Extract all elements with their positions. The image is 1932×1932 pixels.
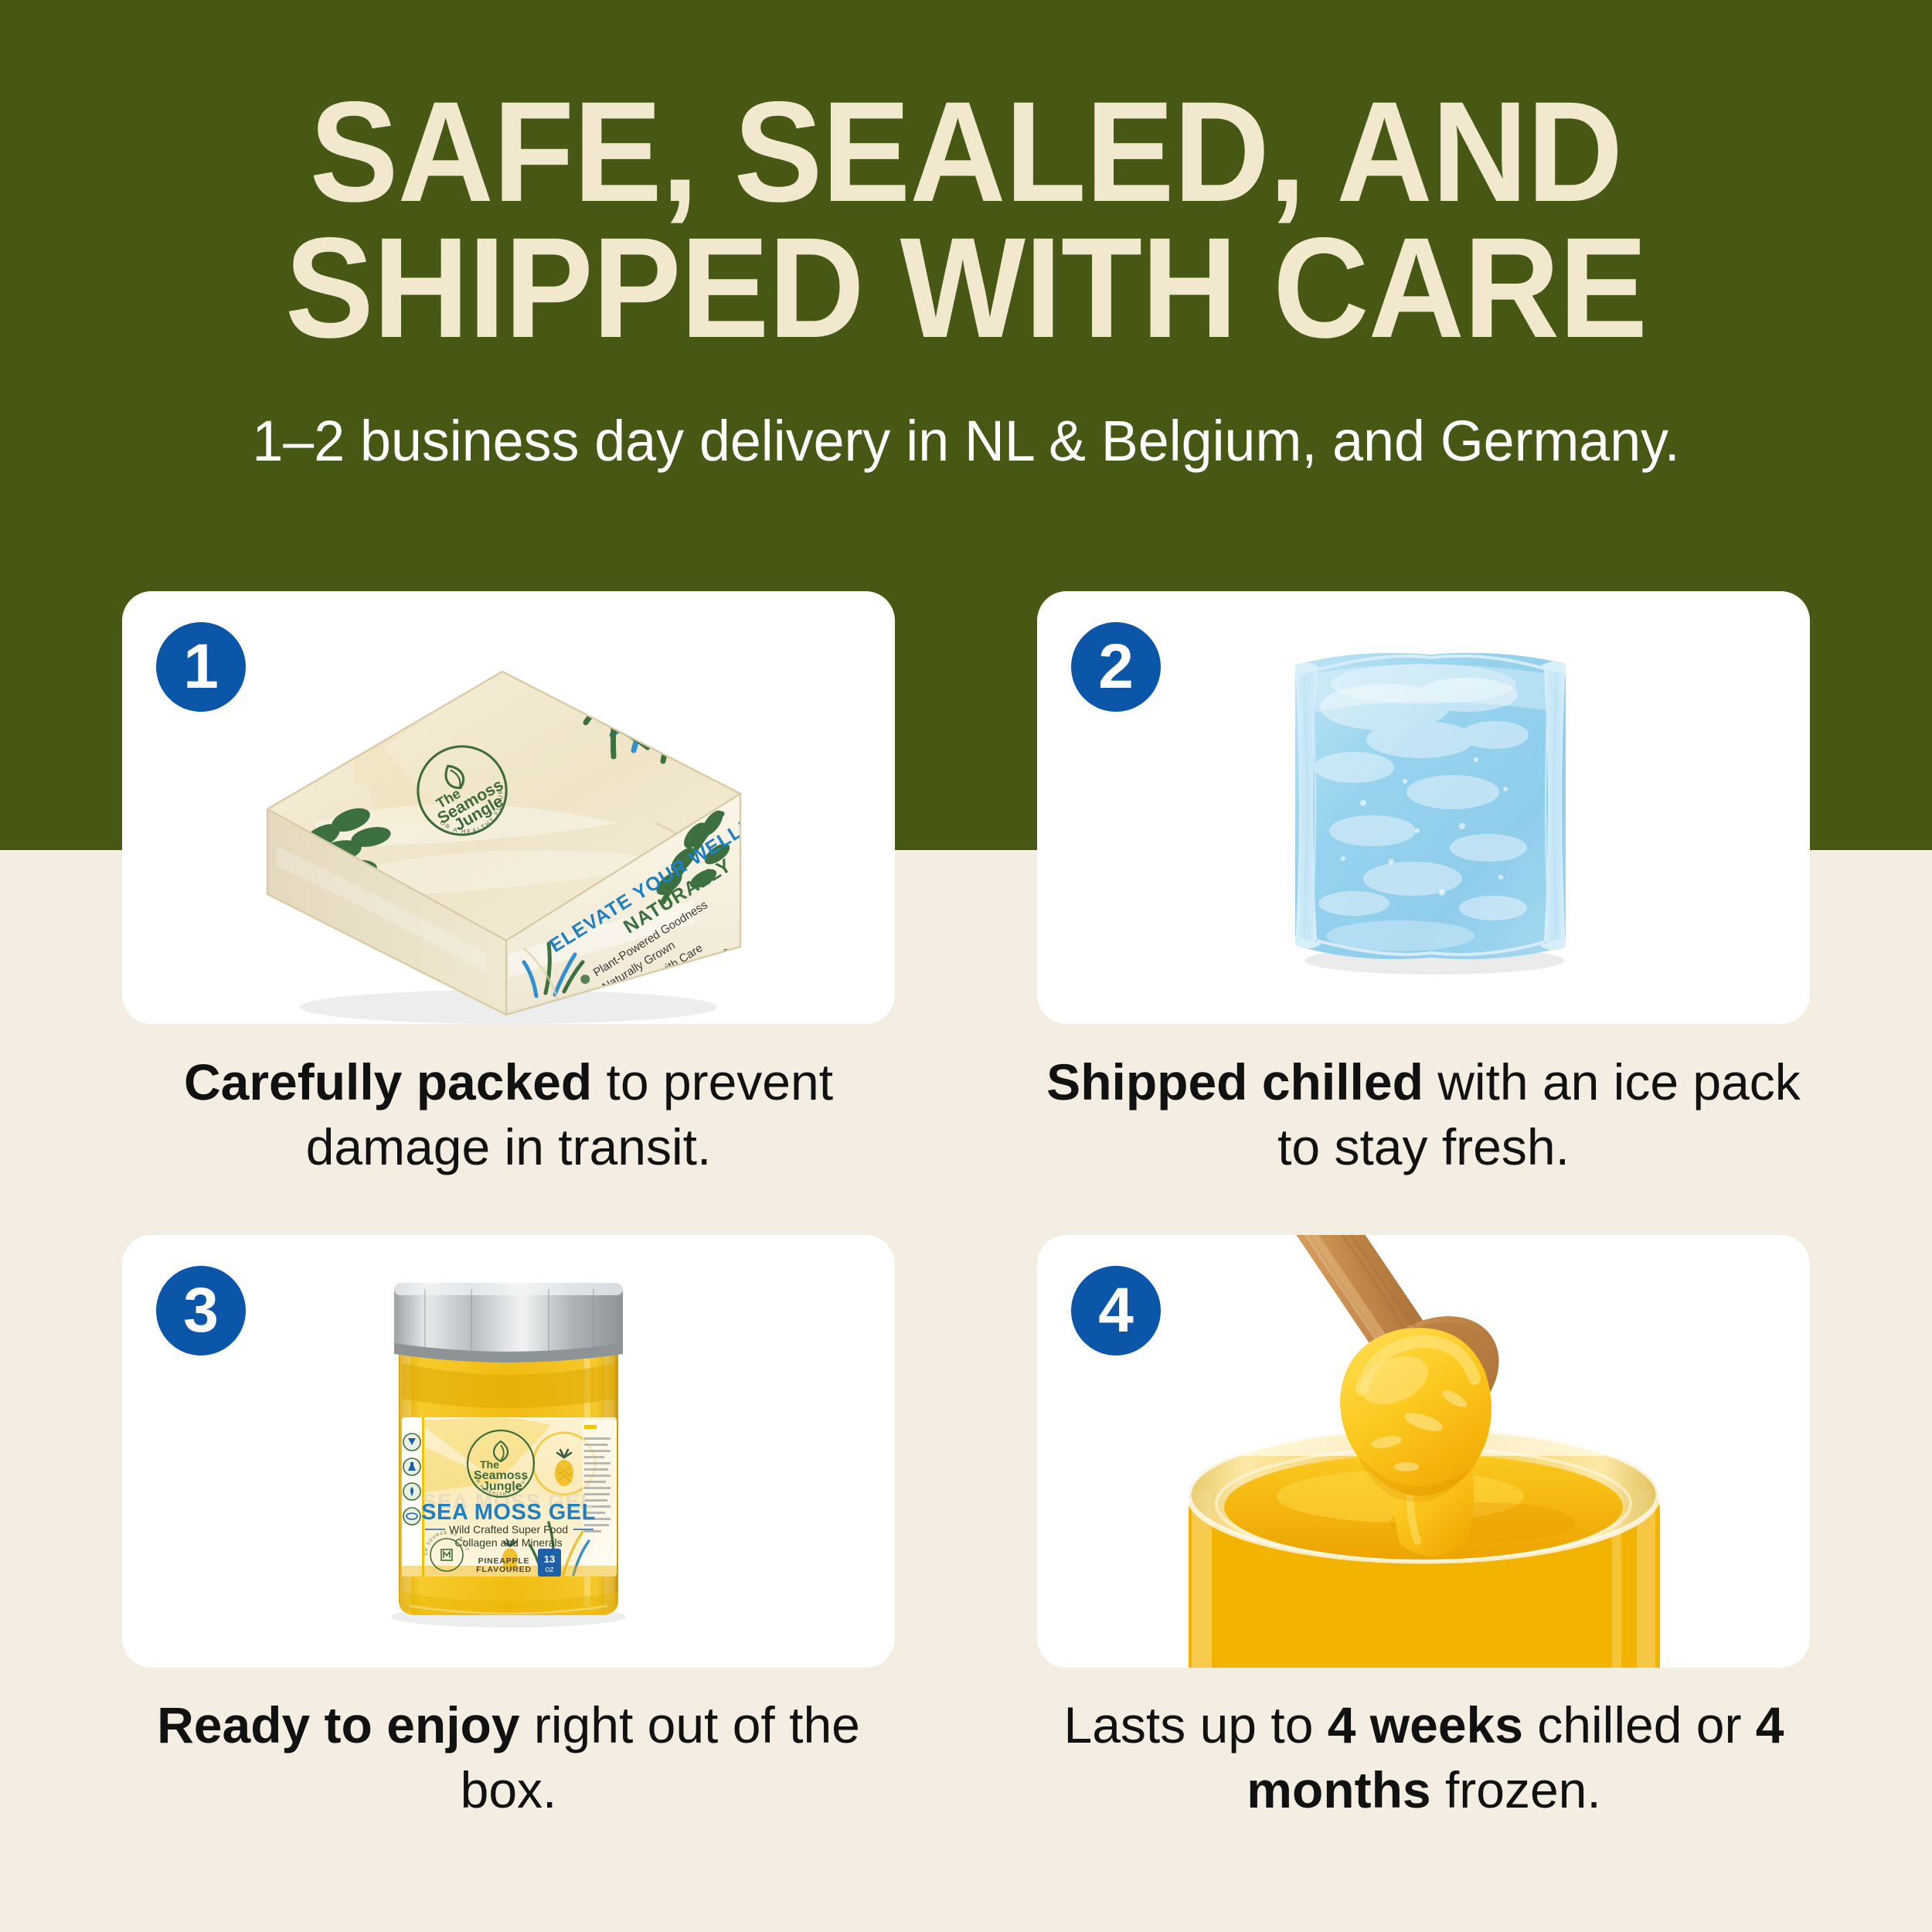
caption-4-suffix: frozen.	[1431, 1761, 1601, 1818]
ice-pack-illustration	[1269, 638, 1594, 978]
jar-product-name: SEA MOSS GEL	[421, 1500, 596, 1525]
step-card-2: 2	[1037, 591, 1810, 1024]
caption-2-bold: Shipped chilled	[1046, 1053, 1423, 1111]
step-caption-3: Ready to enjoy right out of the box.	[122, 1692, 895, 1823]
step-caption-2: Shipped chilled with an ice pack to stay…	[1037, 1049, 1810, 1180]
step-caption-4: Lasts up to 4 weeks chilled or 4 months …	[1005, 1692, 1843, 1823]
infographic-page: SAFE, SEALED, AND SHIPPED WITH CARE 1–2 …	[0, 0, 1932, 1932]
caption-3-bold: Ready to enjoy	[157, 1696, 519, 1753]
step-caption-1: Carefully packed to prevent damage in tr…	[122, 1049, 895, 1180]
caption-1-bold: Carefully packed	[184, 1053, 592, 1111]
jar-size-unit: OZ	[545, 1566, 553, 1573]
step-number-badge-3: 3	[156, 1266, 246, 1355]
caption-4-prefix: Lasts up to	[1064, 1696, 1328, 1753]
step-card-3: 3	[122, 1235, 895, 1668]
step-number-badge-1: 1	[156, 622, 246, 712]
step-number-badge-2: 2	[1071, 622, 1161, 712]
step-number-badge-4: 4	[1071, 1266, 1161, 1355]
caption-4-bold-1: 4 weeks	[1328, 1696, 1523, 1753]
caption-4-mid: chilled or	[1523, 1696, 1756, 1753]
header: SAFE, SEALED, AND SHIPPED WITH CARE 1–2 …	[0, 0, 1932, 474]
page-subtitle: 1–2 business day delivery in NL & Belgiu…	[29, 357, 1903, 474]
step-card-1: 1	[122, 591, 895, 1024]
jar-size-value: 13	[544, 1553, 555, 1565]
headline-line-2: SHIPPED WITH CARE	[68, 221, 1865, 357]
jar-descriptor-2: Collagen and Minerals	[454, 1536, 562, 1549]
page-title: SAFE, SEALED, AND SHIPPED WITH CARE	[68, 0, 1865, 357]
caption-3-rest: right out of the box.	[461, 1696, 860, 1818]
jar-flavour-line-2: FLAVOURED	[476, 1565, 532, 1574]
jar-descriptor-1: Wild Crafted Super Food	[449, 1523, 568, 1536]
step-card-4: 4	[1037, 1235, 1810, 1668]
